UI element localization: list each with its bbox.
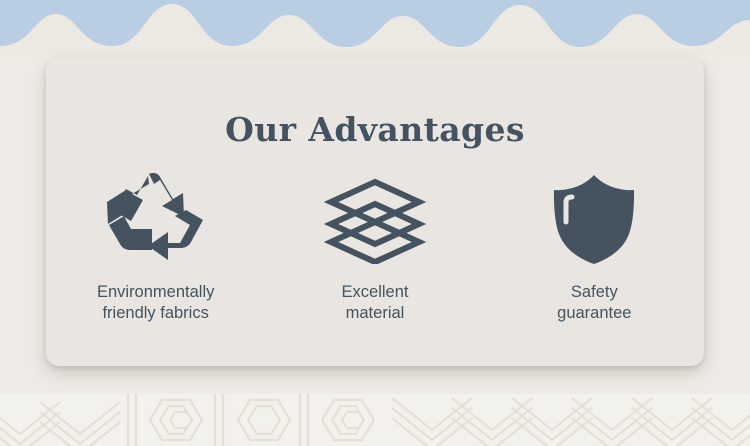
feature-caption: Environmentally friendly fabrics xyxy=(97,282,214,324)
layers-icon xyxy=(323,172,427,264)
feature-caption: Safety guarantee xyxy=(557,282,631,324)
feature-item: Environmentally friendly fabrics xyxy=(46,170,265,324)
layers-icon-container xyxy=(323,170,427,266)
recycle-icon xyxy=(104,172,208,264)
recycle-icon-container xyxy=(104,170,208,266)
page-title: Our Advantages xyxy=(46,110,704,149)
feature-caption: Excellent material xyxy=(342,282,409,324)
advantages-card: Our Advantages xyxy=(46,58,704,366)
feature-columns: Environmentally friendly fabrics Excelle… xyxy=(46,170,704,324)
shield-icon xyxy=(542,172,646,264)
advantages-banner: Our Advantages xyxy=(0,0,750,446)
feature-item: Excellent material xyxy=(265,170,484,324)
geometric-pattern-band xyxy=(0,394,750,446)
cloud-scallop-decoration xyxy=(0,0,750,62)
shield-icon-container xyxy=(542,170,646,266)
feature-item: Safety guarantee xyxy=(485,170,704,324)
chevron-hexagon-pattern xyxy=(0,394,750,446)
